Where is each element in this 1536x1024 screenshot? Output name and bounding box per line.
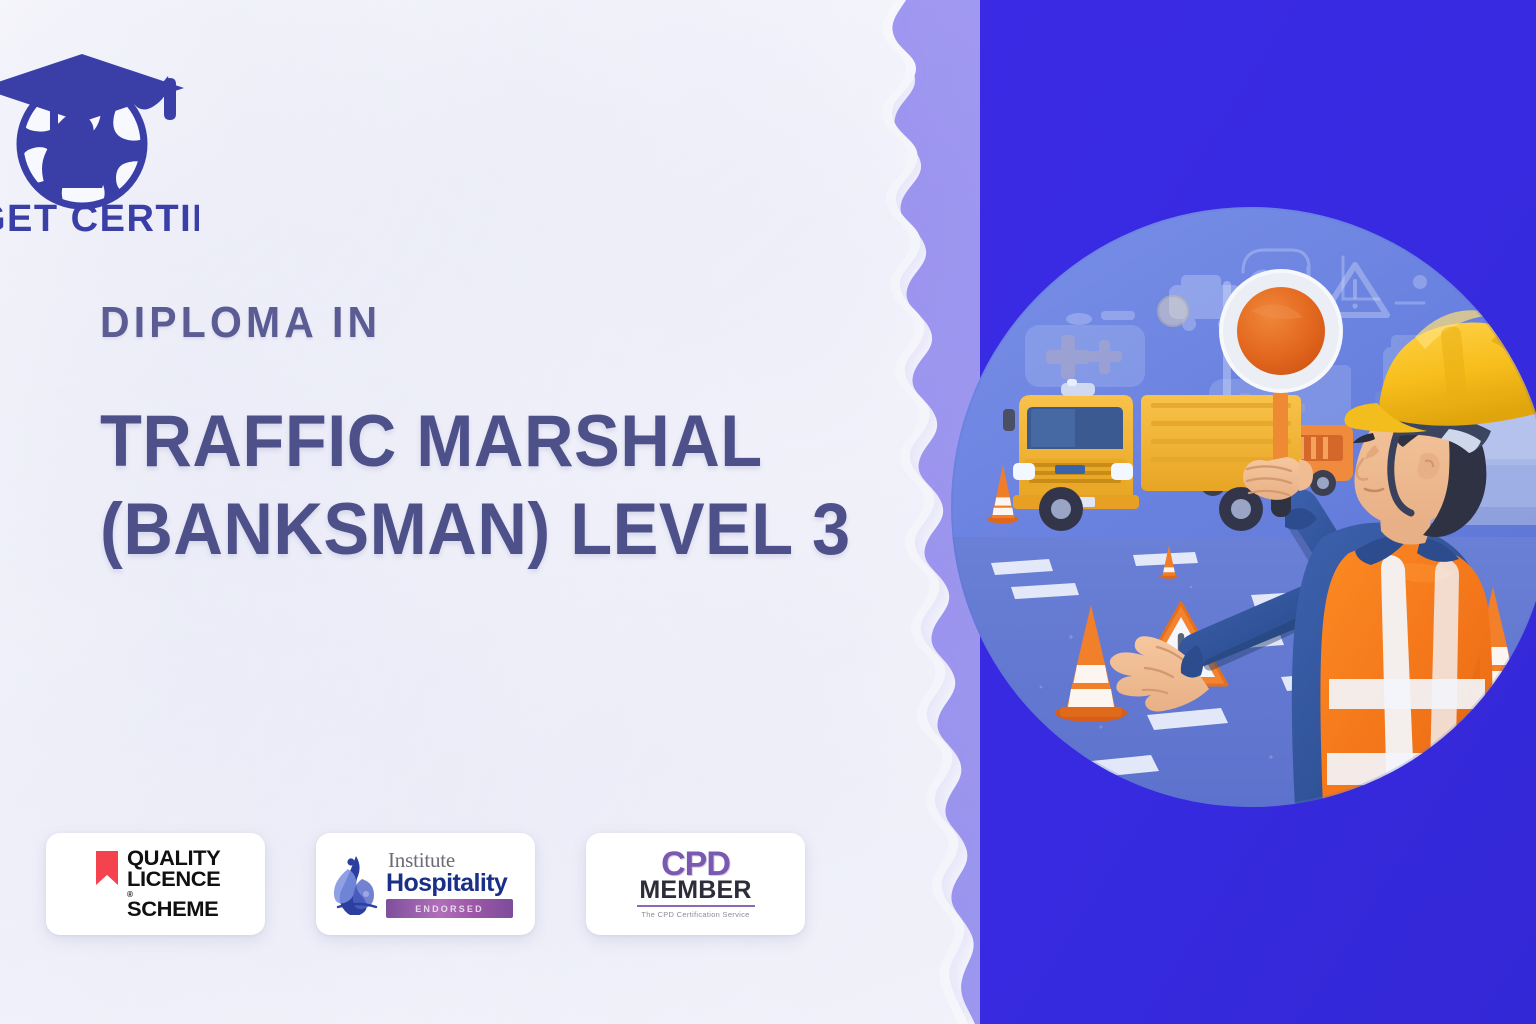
red-bookmark-ribbon-icon: [96, 851, 118, 885]
brand-logo[interactable]: GET CERTIFY: [0, 26, 199, 236]
ioh-line-1: Institute: [388, 850, 455, 871]
title-line-1: TRAFFIC MARSHAL: [100, 398, 814, 486]
page-title: TRAFFIC MARSHAL (BANKSMAN) LEVEL 3: [100, 398, 814, 573]
badge-cpd-member[interactable]: CPD MEMBER The CPD Certification Service: [586, 833, 805, 935]
qls-line-3: SCHEME: [127, 899, 220, 920]
qls-line-2: LICENCE®: [127, 869, 220, 898]
banner-stage: GET CERTIFY DIPLOMA IN TRAFFIC MARSHAL (…: [0, 0, 1536, 1024]
heading-block: DIPLOMA IN TRAFFIC MARSHAL (BANKSMAN) LE…: [100, 300, 860, 573]
cpd-wordmark: CPD MEMBER The CPD Certification Service: [637, 847, 755, 920]
title-line-2: (BANKSMAN) LEVEL 3: [100, 486, 814, 574]
badge-quality-licence-scheme[interactable]: QUALITY LICENCE® SCHEME: [46, 833, 265, 935]
badge-institute-of-hospitality[interactable]: Institute Hospitality ENDORSED: [316, 833, 535, 935]
qls-line-1: QUALITY: [127, 848, 220, 869]
ioh-line-2: Hospitality: [386, 870, 507, 896]
institute-of-hospitality-crest-icon: [332, 853, 382, 915]
accreditation-badges: QUALITY LICENCE® SCHEME: [46, 833, 805, 935]
brand-wordmark: GET CERTIFY: [0, 198, 199, 236]
cpd-line-3: The CPD Certification Service: [641, 910, 749, 920]
cpd-line-2: MEMBER: [639, 878, 751, 903]
cpd-divider: [637, 905, 755, 907]
qls-wordmark: QUALITY LICENCE® SCHEME: [127, 848, 220, 920]
kicker-text: DIPLOMA IN: [100, 300, 807, 346]
ioh-wordmark: Institute Hospitality ENDORSED: [386, 850, 513, 918]
ioh-banner-text: ENDORSED: [415, 904, 484, 914]
ioh-endorsed-banner: ENDORSED: [386, 899, 513, 918]
